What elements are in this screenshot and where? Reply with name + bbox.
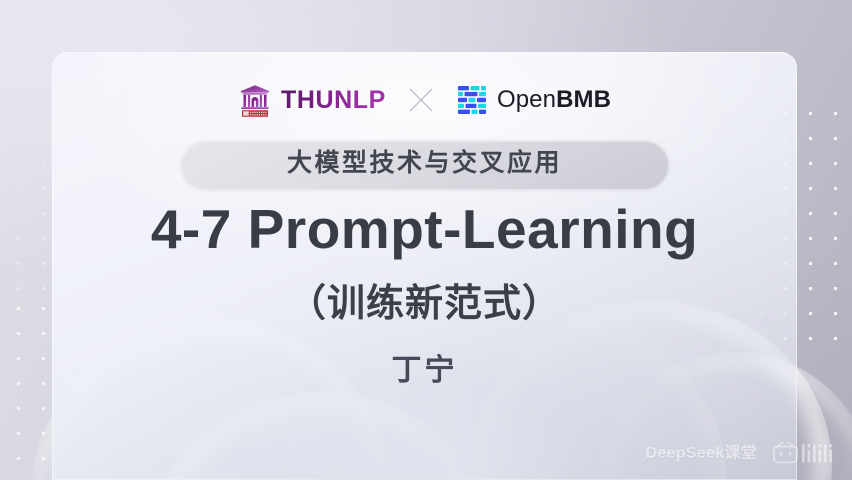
title-card: THUNLP <box>52 52 797 480</box>
logo-row: THUNLP <box>52 82 797 118</box>
openbmb-brick-logo-icon <box>456 85 488 115</box>
page-title: 4-7 Prompt-Learning <box>52 200 797 259</box>
thunlp-brand: THUNLP <box>238 82 386 118</box>
series-pill: 大模型技术与交叉应用 <box>181 140 669 189</box>
page-subtitle: （训练新范式） <box>52 284 797 326</box>
slide-stage: THUNLP <box>0 0 852 480</box>
openbmb-brand: OpenBMB <box>456 85 611 115</box>
thunlp-wordmark: THUNLP <box>281 88 386 113</box>
series-pill-label: 大模型技术与交叉应用 <box>215 151 635 176</box>
x-cross-icon <box>408 87 434 113</box>
openbmb-wordmark-open: Open <box>497 86 556 113</box>
speaker-name: 丁宁 <box>52 354 797 387</box>
thunlp-gate-logo-icon <box>238 82 272 118</box>
openbmb-wordmark-bmb: BMB <box>556 86 611 113</box>
openbmb-wordmark: OpenBMB <box>497 88 611 112</box>
series-pill-wrap: 大模型技术与交叉应用 <box>52 140 797 189</box>
